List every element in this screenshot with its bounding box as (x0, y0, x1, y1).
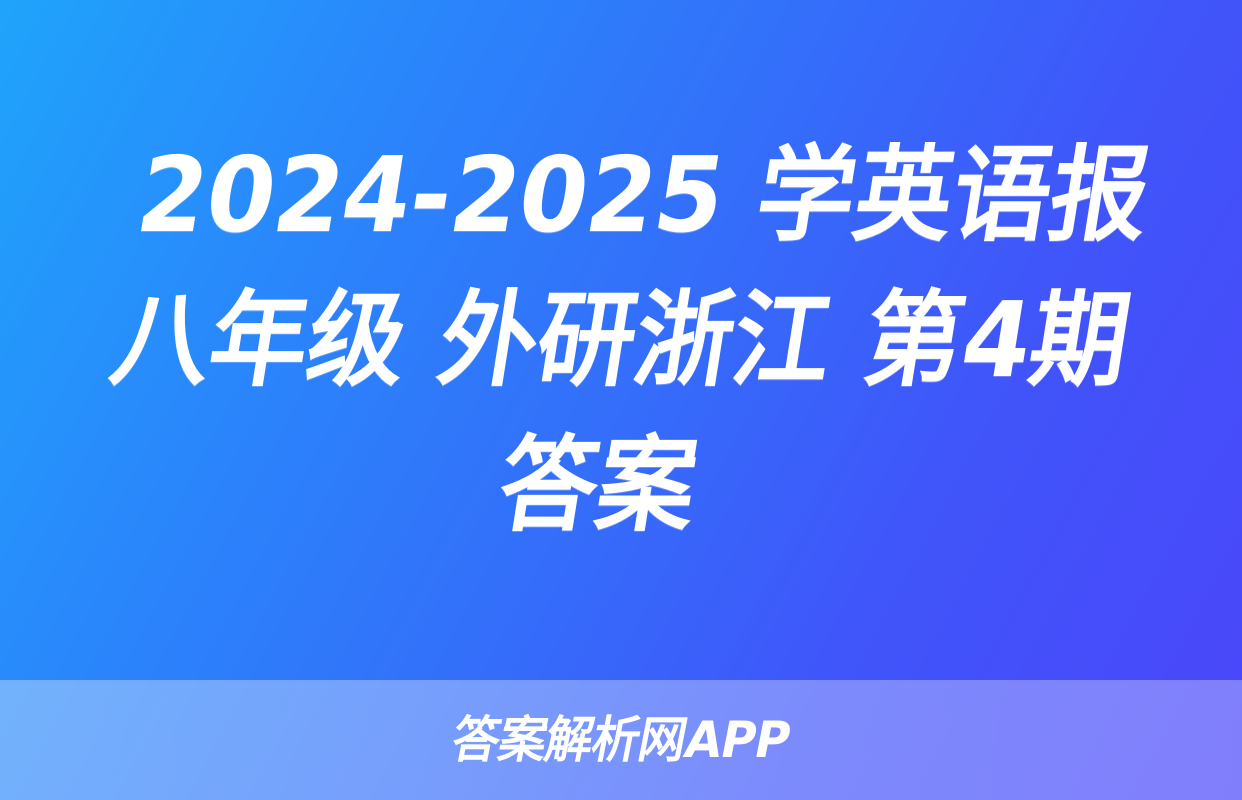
watermark-text: 答案解析网APP (448, 714, 794, 766)
page-title: 2024-2025 学英语报 八年级 外研浙江 第4期答案 (57, 123, 1184, 558)
watermark-band: 答案解析网APP (0, 680, 1242, 800)
title-area: 2024-2025 学英语报 八年级 外研浙江 第4期答案 (0, 0, 1242, 680)
title-card: 2024-2025 学英语报 八年级 外研浙江 第4期答案 答案解析网APP (0, 0, 1242, 800)
